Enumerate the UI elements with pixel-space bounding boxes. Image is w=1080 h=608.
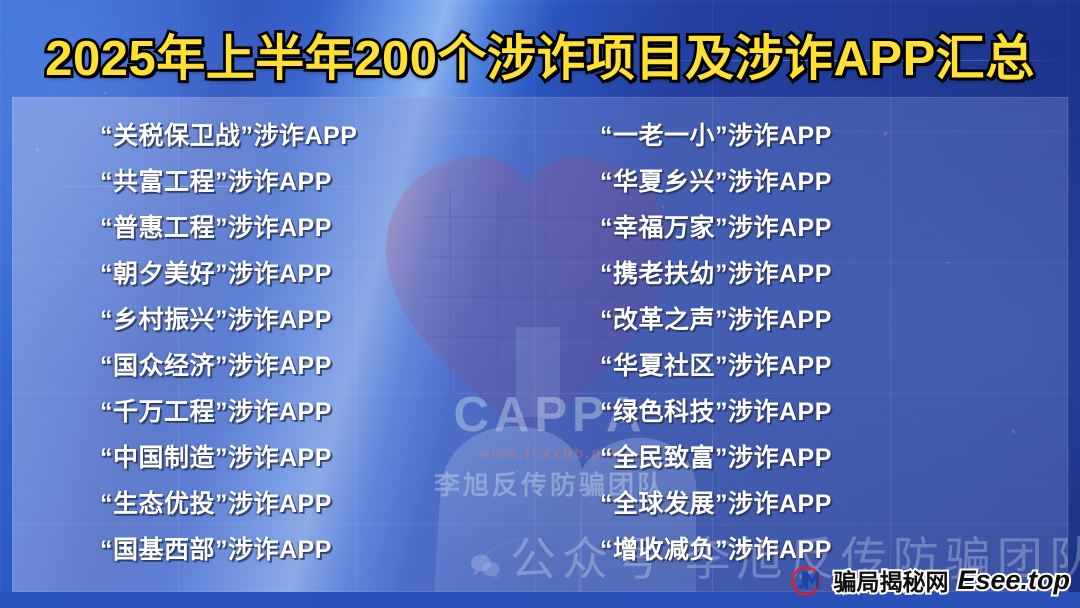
list-item: “千万工程”涉诈APP — [100, 389, 540, 435]
list-item-label: “一老一小”涉诈APP — [600, 124, 832, 149]
list-item-label: “普惠工程”涉诈APP — [100, 216, 332, 241]
list-item: “乡村振兴”涉诈APP — [100, 297, 540, 343]
app-list-left-column: “关税保卫战”涉诈APP “共富工程”涉诈APP “普惠工程”涉诈APP “朝夕… — [12, 97, 540, 592]
list-item-label: “国众经济”涉诈APP — [100, 354, 332, 379]
brand-site-url: Esee.top — [957, 565, 1070, 596]
list-item-label: “乡村振兴”涉诈APP — [100, 308, 332, 333]
app-list: “关税保卫战”涉诈APP “共富工程”涉诈APP “普惠工程”涉诈APP “朝夕… — [12, 97, 1068, 592]
list-item: “幸福万家”涉诈APP — [600, 205, 1068, 251]
page-title: 2025年上半年200个涉诈项目及涉诈APP汇总 — [0, 24, 1080, 94]
list-item-label: “绿色科技”涉诈APP — [600, 400, 832, 425]
list-item-label: “国基西部”涉诈APP — [100, 538, 332, 563]
list-item: “全球发展”涉诈APP — [600, 481, 1068, 527]
list-item: “国基西部”涉诈APP — [100, 527, 540, 573]
list-item-label: “全民致富”涉诈APP — [600, 446, 832, 471]
list-item: “改革之声”涉诈APP — [600, 297, 1068, 343]
list-item-label: “幸福万家”涉诈APP — [600, 216, 832, 241]
list-item: “关税保卫战”涉诈APP — [100, 113, 540, 159]
list-item: “携老扶幼”涉诈APP — [600, 251, 1068, 297]
list-item: “一老一小”涉诈APP — [600, 113, 1068, 159]
list-item: “全民致富”涉诈APP — [600, 435, 1068, 481]
list-item-label: “增收减负”涉诈APP — [600, 538, 832, 563]
jm-logo-icon — [790, 563, 824, 597]
list-item-label: “华夏社区”涉诈APP — [600, 354, 832, 379]
app-list-right-column: “一老一小”涉诈APP “华夏乡兴”涉诈APP “幸福万家”涉诈APP “携老扶… — [540, 97, 1068, 592]
page-title-text: 2025年上半年200个涉诈项目及涉诈APP汇总 — [45, 35, 1035, 84]
brand-lockup: 骗局揭秘网 Esee.top — [790, 563, 1070, 597]
list-item-label: “千万工程”涉诈APP — [100, 400, 332, 425]
content-panel: CAPPA www.fcxxhb.pro 李旭反传防骗团队 “关税保卫战”涉诈A… — [12, 97, 1068, 592]
list-item-label: “朝夕美好”涉诈APP — [100, 262, 332, 287]
list-item-label: “共富工程”涉诈APP — [100, 170, 332, 195]
list-item-label: “全球发展”涉诈APP — [600, 492, 832, 517]
list-item: “朝夕美好”涉诈APP — [100, 251, 540, 297]
list-item: “绿色科技”涉诈APP — [600, 389, 1068, 435]
list-item-label: “改革之声”涉诈APP — [600, 308, 832, 333]
list-item-label: “华夏乡兴”涉诈APP — [600, 170, 832, 195]
list-item: “中国制造”涉诈APP — [100, 435, 540, 481]
slide-canvas: 2025年上半年200个涉诈项目及涉诈APP汇总 — [0, 0, 1080, 608]
list-item: “华夏社区”涉诈APP — [600, 343, 1068, 389]
list-item: “华夏乡兴”涉诈APP — [600, 159, 1068, 205]
brand-site-name: 骗局揭秘网 — [833, 563, 948, 597]
list-item: “共富工程”涉诈APP — [100, 159, 540, 205]
list-item-label: “生态优投”涉诈APP — [100, 492, 332, 517]
list-item: “国众经济”涉诈APP — [100, 343, 540, 389]
list-item-label: “携老扶幼”涉诈APP — [600, 262, 832, 287]
list-item: “生态优投”涉诈APP — [100, 481, 540, 527]
list-item-label: “中国制造”涉诈APP — [100, 446, 332, 471]
list-item: “普惠工程”涉诈APP — [100, 205, 540, 251]
list-item-label: “关税保卫战”涉诈APP — [100, 124, 357, 149]
